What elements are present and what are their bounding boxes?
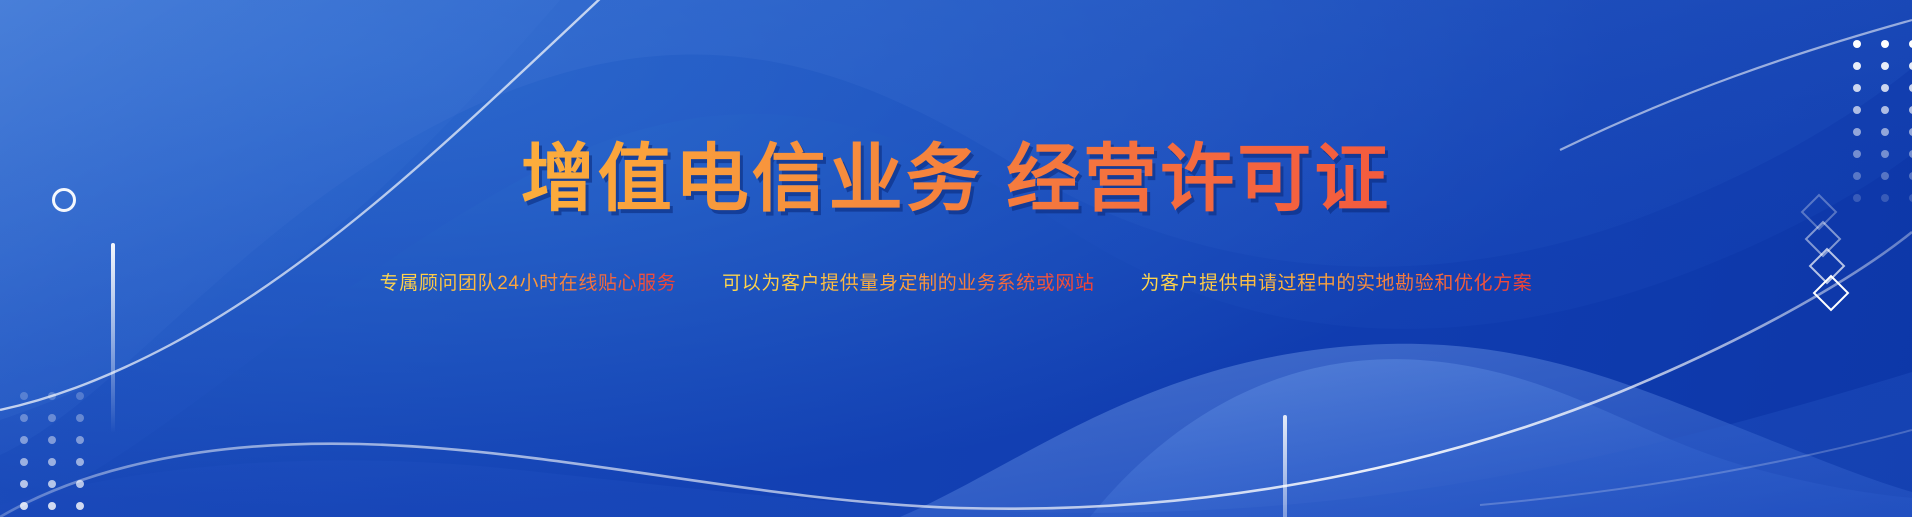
dot-grid-bottom-left xyxy=(20,392,84,517)
subtitle-segment-1: 专属顾问团队24小时在线贴心服务 xyxy=(380,273,677,294)
subtitle-segment-3: 为客户提供申请过程中的实地勘验和优化方案 xyxy=(1140,273,1532,294)
vertical-accent-bar-right xyxy=(1283,415,1287,517)
background-waves xyxy=(0,0,1912,517)
subtitle-segment-2: 可以为客户提供量身定制的业务系统或网站 xyxy=(722,273,1094,294)
promo-banner: 增值电信业务 经营许可证 专属顾问团队24小时在线贴心服务 可以为客户提供量身定… xyxy=(0,0,1912,517)
banner-subtitle: 专属顾问团队24小时在线贴心服务 可以为客户提供量身定制的业务系统或网站 为客户… xyxy=(0,268,1912,295)
page-title: 增值电信业务 经营许可证 xyxy=(0,140,1912,218)
